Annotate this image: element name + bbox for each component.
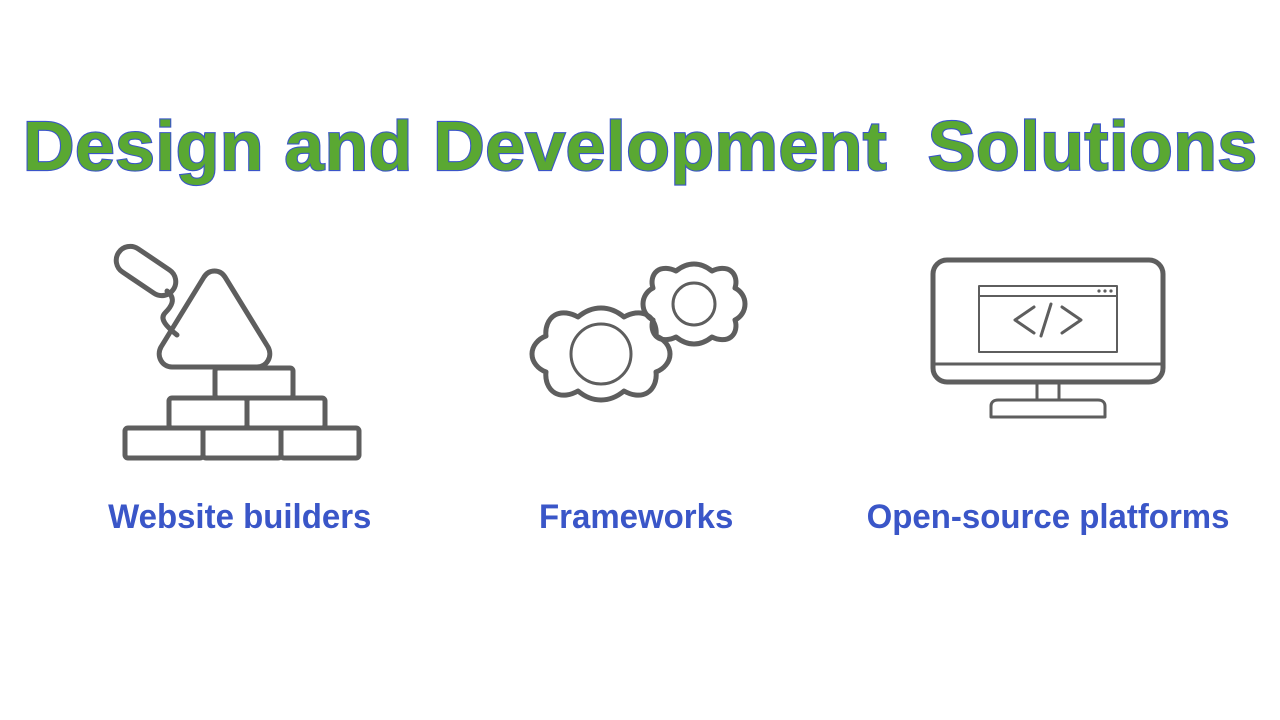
- cards-row: Website builders Frameworks: [0, 236, 1280, 556]
- card-label-frameworks: Frameworks: [539, 498, 733, 536]
- card-label-website-builders: Website builders: [108, 498, 371, 536]
- card-open-source-platforms[interactable]: Open-source platforms: [846, 236, 1250, 536]
- title-container: Design and Development Solutions: [0, 108, 1280, 184]
- icon-container-open-source-platforms: [923, 236, 1173, 436]
- card-label-open-source-platforms: Open-source platforms: [867, 498, 1230, 536]
- gears-icon: [521, 246, 751, 426]
- page-title: Design and Development Solutions: [23, 108, 1258, 184]
- icon-container-website-builders: [105, 236, 375, 436]
- trowel-brick-wall-icon: [105, 241, 375, 431]
- icon-container-frameworks: [521, 236, 751, 436]
- card-website-builders[interactable]: Website builders: [38, 236, 442, 536]
- slide-canvas: Design and Development Solutions: [0, 0, 1280, 720]
- card-frameworks[interactable]: Frameworks: [434, 236, 838, 536]
- monitor-code-icon: [923, 254, 1173, 419]
